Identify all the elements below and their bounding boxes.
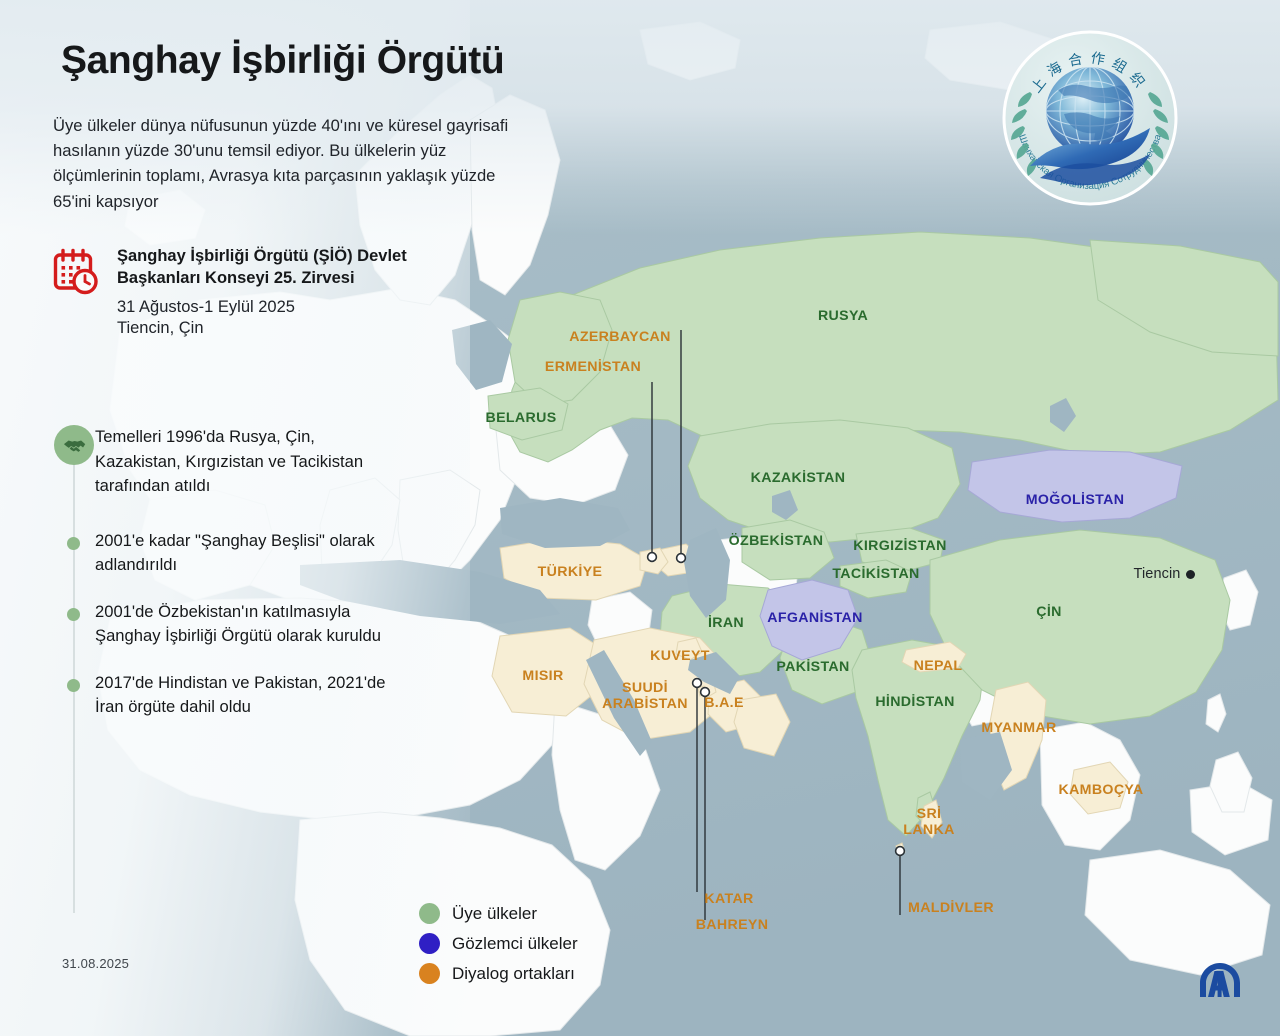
map-label-kamboçya: KAMBOÇYA: [1058, 783, 1143, 799]
legend-item-partner: Diyalog ortakları: [419, 963, 578, 984]
map-label-katar: KATAR: [704, 892, 753, 908]
event-location: Tiencin, Çin: [117, 318, 423, 340]
page-subtitle: Üye ülkeler dünya nüfusunun yüzde 40'ını…: [53, 113, 523, 214]
legend-label-observer: Gözlemci ülkeler: [452, 934, 578, 954]
map-label-azerbaycan: AZERBAYCAN: [569, 330, 671, 346]
map-legend: Üye ülkelerGözlemci ülkelerDiyalog ortak…: [419, 903, 578, 993]
sco-emblem: 上海合作组织 Шанхайская Организация Сотрудниче…: [1000, 28, 1180, 208]
map-label-i-ran: İRAN: [708, 616, 744, 632]
map-label-kirgizi-stan: KIRGIZİSTAN: [853, 539, 946, 555]
legend-label-partner: Diyalog ortakları: [452, 964, 575, 984]
map-label-b-a-e: B.A.E: [704, 696, 744, 712]
timeline-marker: [53, 671, 95, 692]
timeline-list: Temelleri 1996'da Rusya, Çin, Kazakistan…: [53, 425, 393, 742]
publication-date: 31.08.2025: [62, 956, 129, 971]
timeline-item: 2001'e kadar "Şanghay Beşlisi" olarak ad…: [53, 529, 393, 578]
legend-label-member: Üye ülkeler: [452, 904, 537, 924]
map-label-rusya: RUSYA: [818, 309, 868, 325]
map-label-kazaki-stan: KAZAKİSTAN: [751, 471, 846, 487]
map-label-bahreyn: BAHREYN: [696, 918, 769, 934]
map-label-özbeki-stan: ÖZBEKİSTAN: [729, 534, 824, 550]
city-label-tiencin: Tiencin: [1134, 566, 1181, 582]
legend-swatch-observer: [419, 933, 440, 954]
map-label-türki-ye: TÜRKİYE: [538, 565, 603, 581]
infographic-root: RUSYABELARUSKAZAKİSTANÖZBEKİSTANKIRGIZİS…: [0, 0, 1280, 1036]
timeline-marker: [53, 600, 95, 621]
timeline-dot-icon: [67, 679, 80, 692]
map-label-sri-lanka: SRİLANKA: [903, 807, 954, 839]
event-date: 31 Ağustos-1 Eylül 2025: [117, 297, 423, 319]
timeline-item-text: 2001'e kadar "Şanghay Beşlisi" olarak ad…: [95, 529, 393, 578]
map-label-myanmar: MYANMAR: [981, 721, 1056, 737]
timeline-dot-icon: [67, 608, 80, 621]
event-title: Şanghay İşbirliği Örgütü (ŞİÖ) Devlet Ba…: [117, 246, 423, 290]
map-label-ermeni-stan: ERMENİSTAN: [545, 360, 641, 376]
event-block: Şanghay İşbirliği Örgütü (ŞİÖ) Devlet Ba…: [53, 246, 423, 340]
map-label-paki-stan: PAKİSTAN: [776, 660, 849, 676]
map-label-belarus: BELARUS: [485, 411, 556, 427]
map-label-kuveyt: KUVEYT: [650, 649, 710, 665]
legend-item-member: Üye ülkeler: [419, 903, 578, 924]
map-label-afgani-stan: AFGANİSTAN: [767, 611, 862, 627]
map-label-hi-ndi-stan: HİNDİSTAN: [875, 695, 954, 711]
legend-swatch-member: [419, 903, 440, 924]
legend-item-observer: Gözlemci ülkeler: [419, 933, 578, 954]
map-label-taci-ki-stan: TACİKİSTAN: [832, 567, 919, 583]
map-label-suudi-arabi-stan: SUUDİARABİSTAN: [602, 681, 688, 713]
anadolu-agency-logo: [1196, 961, 1244, 999]
city-dot-icon: [1186, 570, 1195, 579]
timeline-item: 2017'de Hindistan ve Pakistan, 2021'de İ…: [53, 671, 393, 720]
timeline-marker: [53, 529, 95, 550]
timeline-marker: [53, 425, 95, 465]
timeline-item-text: 2017'de Hindistan ve Pakistan, 2021'de İ…: [95, 671, 393, 720]
timeline-item-text: Temelleri 1996'da Rusya, Çin, Kazakistan…: [95, 425, 393, 499]
timeline-dot-icon: [67, 537, 80, 550]
map-label-moğoli-stan: MOĞOLİSTAN: [1026, 493, 1125, 509]
map-label-çi-n: ÇİN: [1036, 605, 1061, 621]
legend-swatch-partner: [419, 963, 440, 984]
timeline-item: Temelleri 1996'da Rusya, Çin, Kazakistan…: [53, 425, 393, 499]
calendar-clock-icon: [53, 248, 101, 298]
timeline-item-text: 2001'de Özbekistan'ın katılmasıyla Şangh…: [95, 600, 393, 649]
map-label-misir: MISIR: [522, 669, 563, 685]
handshake-icon: [54, 425, 94, 465]
map-label-maldi-vler: MALDİVLER: [908, 901, 994, 917]
timeline-item: 2001'de Özbekistan'ın katılmasıyla Şangh…: [53, 600, 393, 649]
page-title: Şanghay İşbirliği Örgütü: [61, 40, 504, 83]
map-label-nepal: NEPAL: [914, 659, 963, 675]
